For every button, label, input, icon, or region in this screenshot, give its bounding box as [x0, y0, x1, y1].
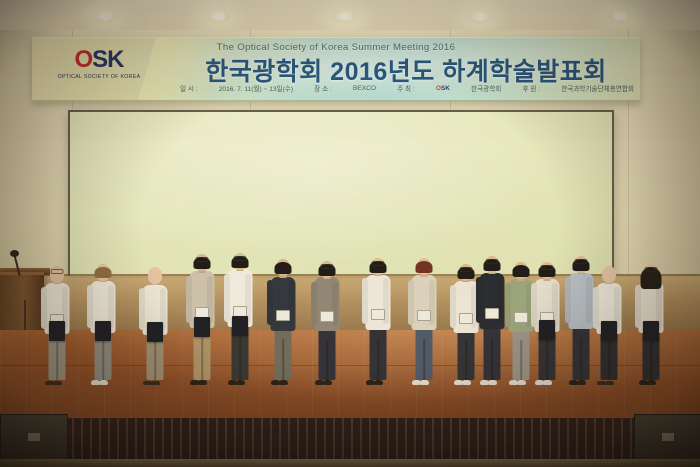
- person-8-shoe-2: [374, 380, 383, 385]
- person-4: [185, 243, 219, 385]
- person-13-arm-1: [531, 283, 537, 327]
- person-7-leg-gap: [326, 340, 328, 380]
- person-9-leg-gap: [423, 339, 425, 380]
- ceiling-light-1: [94, 10, 116, 23]
- person-11-leg-gap: [491, 338, 493, 380]
- banner-date-value: 2016. 7. 11(월) ~ 13일(수): [219, 83, 293, 93]
- person-11-name-badge: [485, 308, 499, 319]
- person-5-arm-1: [224, 274, 230, 322]
- person-9-name-badge: [417, 310, 431, 321]
- person-8-leg-gap: [377, 339, 379, 380]
- person-6-shoe-2: [279, 380, 288, 385]
- ceiling-light-5: [609, 10, 631, 23]
- speaker-right: [634, 414, 700, 464]
- person-2-leg-gap: [102, 341, 104, 380]
- person-1-glasses-icon: [51, 269, 64, 274]
- person-3-leg-gap: [154, 342, 156, 380]
- person-5-glasses-icon: [234, 256, 247, 261]
- person-16-certificate: [643, 321, 659, 341]
- person-1-leg-gap: [56, 342, 58, 380]
- person-10-leg-gap: [465, 341, 467, 380]
- person-8-arm-1: [362, 278, 368, 324]
- person-2-hair: [95, 267, 112, 278]
- person-1-certificate: [49, 321, 65, 341]
- person-6-arm-1: [267, 280, 273, 325]
- person-3: [138, 259, 172, 385]
- person-14-shoe-2: [577, 380, 586, 385]
- person-15-arm-1: [593, 287, 599, 329]
- person-2-arm-1: [87, 285, 93, 328]
- speaker-logo-badge: [28, 433, 40, 441]
- osk-logo-subtitle: OPTICAL SOCIETY OF KOREA: [50, 74, 148, 80]
- person-14-glasses-icon: [575, 259, 588, 264]
- person-5-shoe-2: [236, 380, 245, 385]
- ceiling-light-4: [469, 10, 491, 23]
- person-15-shoe-2: [605, 381, 614, 385]
- person-15-head: [602, 266, 616, 283]
- person-4-certificate: [194, 317, 210, 337]
- person-7-glasses-icon: [321, 264, 334, 269]
- osk-logo: OSK OPTICAL SOCIETY OF KOREA: [50, 48, 148, 90]
- person-15: [592, 257, 626, 385]
- person-10-glasses-icon: [460, 267, 473, 272]
- person-13-certificate: [539, 320, 555, 340]
- event-banner: OSK OPTICAL SOCIETY OF KOREA The Optical…: [32, 37, 640, 102]
- stage-apron: [0, 459, 700, 467]
- person-2: [86, 255, 120, 385]
- person-9: [407, 248, 441, 385]
- person-4-shoe-2: [198, 380, 207, 385]
- person-13-shoe-2: [543, 380, 552, 385]
- person-3-certificate: [147, 322, 163, 342]
- stage-skirt-pleats: [0, 418, 700, 462]
- banner-sponsor-label: 후 원 :: [522, 83, 540, 93]
- person-7-name-badge: [320, 311, 334, 322]
- person-9-shoe-2: [420, 380, 429, 385]
- person-8-glasses-icon: [372, 261, 385, 266]
- person-10-arm-1: [450, 285, 456, 328]
- person-6-name-badge: [276, 310, 290, 321]
- person-11-shoe-2: [488, 380, 497, 385]
- person-14-leg-gap: [580, 338, 582, 380]
- person-12-name-badge: [514, 312, 528, 323]
- person-5-certificate: [232, 316, 248, 336]
- microphone-head: [10, 250, 19, 257]
- banner-host-label: 주 최 :: [397, 83, 415, 93]
- person-4-glasses-icon: [196, 257, 209, 262]
- person-16: [634, 255, 668, 385]
- banner-info-line: 일 시 : 2016. 7. 11(월) ~ 13일(수) 장 소 : BEXC…: [180, 83, 634, 93]
- banner-host-value: 한국광학회: [471, 83, 501, 93]
- person-4-leg-gap: [201, 337, 203, 380]
- banner-date-label: 일 시 :: [180, 83, 198, 93]
- person-10-name-badge: [459, 313, 473, 324]
- ceiling-light-2: [207, 10, 229, 23]
- person-12-arm-1: [505, 283, 511, 327]
- photo-scene: OSK OPTICAL SOCIETY OF KOREA The Optical…: [0, 0, 700, 467]
- person-1-arm-1: [41, 287, 47, 329]
- person-14-arm-1: [565, 277, 571, 323]
- banner-place-value: BEXCO: [353, 85, 376, 92]
- person-12-leg-gap: [520, 340, 522, 380]
- person-3-head: [148, 267, 162, 284]
- banner-sponsor-value: 한국과학기술단체총연합회: [561, 83, 634, 93]
- person-15-certificate: [601, 321, 617, 341]
- person-10-shoe-2: [462, 380, 471, 385]
- person-15-leg-gap: [608, 342, 610, 380]
- banner-host-logo: OSK: [436, 85, 450, 92]
- ceiling-light-3: [334, 10, 356, 23]
- speaker-logo-badge: [662, 433, 674, 441]
- person-2-certificate: [95, 321, 111, 341]
- person-12-hair: [513, 265, 530, 277]
- microphone-icon: [6, 250, 26, 274]
- person-16-arm-1: [635, 285, 641, 328]
- microphone-stem: [13, 254, 20, 276]
- banner-place-label: 장 소 :: [314, 83, 332, 93]
- person-6: [266, 249, 300, 385]
- person-16-glasses-icon: [645, 267, 658, 272]
- person-1: [40, 257, 74, 385]
- stage-skirt: [0, 418, 700, 462]
- person-3-shoe-2: [151, 381, 160, 385]
- person-2-shoe-2: [99, 380, 108, 385]
- person-13: [530, 253, 564, 385]
- person-1-shoe-2: [53, 381, 62, 385]
- person-13-glasses-icon: [541, 265, 554, 270]
- person-7-arm-1: [311, 282, 317, 326]
- person-6-leg-gap: [282, 339, 284, 380]
- person-5-leg-gap: [239, 337, 241, 380]
- person-16-shoe-2: [647, 380, 656, 385]
- person-3-arm-1: [139, 288, 145, 330]
- person-12-shoe-2: [517, 380, 526, 385]
- person-11-glasses-icon: [486, 259, 499, 264]
- person-5: [223, 241, 257, 385]
- person-4-arm-1: [186, 276, 192, 323]
- person-9-hair: [416, 261, 433, 273]
- person-16-leg-gap: [650, 341, 652, 380]
- speaker-left: [0, 414, 68, 464]
- person-8-name-badge: [371, 309, 385, 320]
- person-6-hair: [275, 262, 292, 274]
- person-13-leg-gap: [546, 340, 548, 380]
- person-8: [361, 247, 395, 385]
- person-7: [310, 251, 344, 385]
- person-11-arm-1: [476, 277, 482, 323]
- person-9-arm-1: [408, 280, 414, 325]
- person-7-shoe-2: [323, 380, 332, 385]
